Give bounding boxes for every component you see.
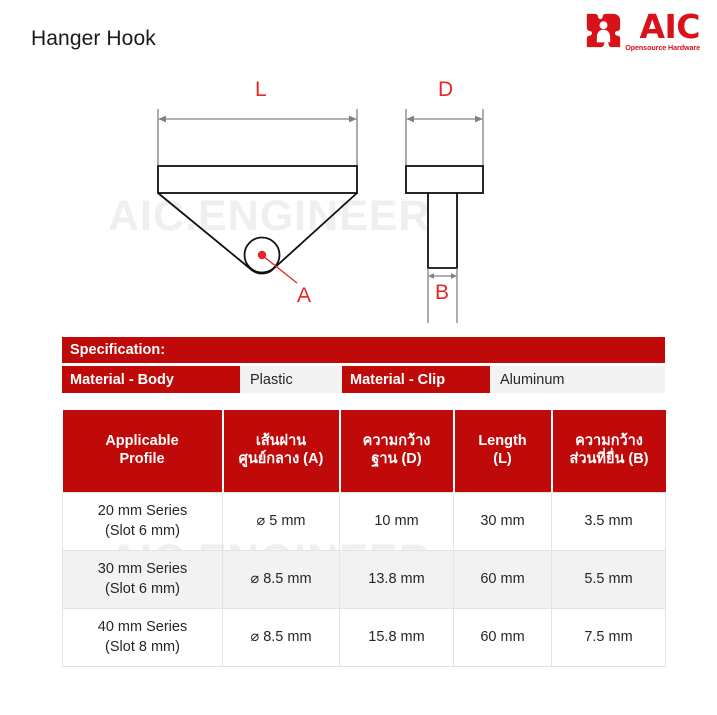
header-line-2: Profile: [65, 451, 220, 469]
header-line-2: ศูนย์กลาง (A): [226, 451, 337, 469]
header-line-1: Applicable: [65, 433, 220, 451]
specification-block: Specification: Material - Body Plastic M…: [62, 337, 665, 393]
aic-puzzle-person-icon: [585, 12, 622, 49]
cell-base-width-d: 13.8 mm: [340, 551, 454, 609]
header-line-1: Length: [457, 433, 549, 451]
table-row: 30 mm Series (Slot 6 mm) ⌀ 8.5 mm 13.8 m…: [63, 551, 666, 609]
column-header-applicable-profile: Applicable Profile: [63, 410, 223, 493]
aic-logo: AIC Opensource Hardware: [585, 11, 700, 52]
cell-protrusion-b: 7.5 mm: [552, 609, 666, 667]
cell-protrusion-b: 5.5 mm: [552, 551, 666, 609]
profile-line-1: 40 mm Series: [65, 618, 220, 637]
profile-line-2: (Slot 6 mm): [65, 580, 220, 599]
table-header-row: Applicable Profile เส้นผ่าน ศูนย์กลาง (A…: [63, 410, 666, 493]
front-view-drawing: [158, 109, 357, 283]
specification-materials-row: Material - Body Plastic Material - Clip …: [62, 366, 665, 393]
header-line-2: ส่วนที่ยื่น (B): [555, 451, 664, 469]
cell-diameter-a: ⌀ 8.5 mm: [223, 551, 340, 609]
header-line-2: ฐาน (D): [343, 451, 451, 469]
material-body-label: Material - Body: [62, 366, 240, 393]
cell-length-l: 30 mm: [454, 493, 552, 551]
profile-line-1: 20 mm Series: [65, 502, 220, 521]
column-header-base-width-d: ความกว้าง ฐาน (D): [340, 410, 454, 493]
material-clip-value: Aluminum: [490, 366, 665, 393]
page-header: Hanger Hook AIC Opensource Hardware: [0, 0, 717, 72]
logo-tagline: Opensource Hardware: [625, 43, 700, 52]
column-header-protrusion-b: ความกว้าง ส่วนที่ยื่น (B): [552, 410, 666, 493]
column-header-diameter-a: เส้นผ่าน ศูนย์กลาง (A): [223, 410, 340, 493]
table-row: 40 mm Series (Slot 8 mm) ⌀ 8.5 mm 15.8 m…: [63, 609, 666, 667]
callout-label-a: A: [297, 284, 311, 308]
cell-protrusion-b: 3.5 mm: [552, 493, 666, 551]
cell-base-width-d: 15.8 mm: [340, 609, 454, 667]
dimension-label-l: L: [255, 78, 267, 102]
specification-header: Specification:: [62, 337, 665, 363]
cell-applicable-profile: 30 mm Series (Slot 6 mm): [63, 551, 223, 609]
header-line-2: (L): [457, 451, 549, 469]
page-title: Hanger Hook: [31, 27, 156, 51]
dimension-label-b: B: [435, 281, 449, 305]
cell-length-l: 60 mm: [454, 551, 552, 609]
cell-diameter-a: ⌀ 5 mm: [223, 493, 340, 551]
material-body-value: Plastic: [240, 366, 342, 393]
profile-line-2: (Slot 6 mm): [65, 522, 220, 541]
cell-applicable-profile: 20 mm Series (Slot 6 mm): [63, 493, 223, 551]
column-header-length-l: Length (L): [454, 410, 552, 493]
logo-text: AIC Opensource Hardware: [625, 11, 700, 52]
cell-length-l: 60 mm: [454, 609, 552, 667]
header-line-1: ความกว้าง: [555, 433, 664, 451]
technical-drawing: L D A B: [0, 78, 717, 323]
dimension-table: Applicable Profile เส้นผ่าน ศูนย์กลาง (A…: [62, 410, 666, 667]
cell-applicable-profile: 40 mm Series (Slot 8 mm): [63, 609, 223, 667]
logo-name: AIC: [639, 11, 700, 42]
profile-line-1: 30 mm Series: [65, 560, 220, 579]
cell-base-width-d: 10 mm: [340, 493, 454, 551]
header-line-1: เส้นผ่าน: [226, 433, 337, 451]
dimension-label-d: D: [438, 78, 453, 102]
cell-diameter-a: ⌀ 8.5 mm: [223, 609, 340, 667]
material-clip-label: Material - Clip: [342, 366, 490, 393]
profile-line-2: (Slot 8 mm): [65, 638, 220, 657]
table-row: 20 mm Series (Slot 6 mm) ⌀ 5 mm 10 mm 30…: [63, 493, 666, 551]
header-line-1: ความกว้าง: [343, 433, 451, 451]
